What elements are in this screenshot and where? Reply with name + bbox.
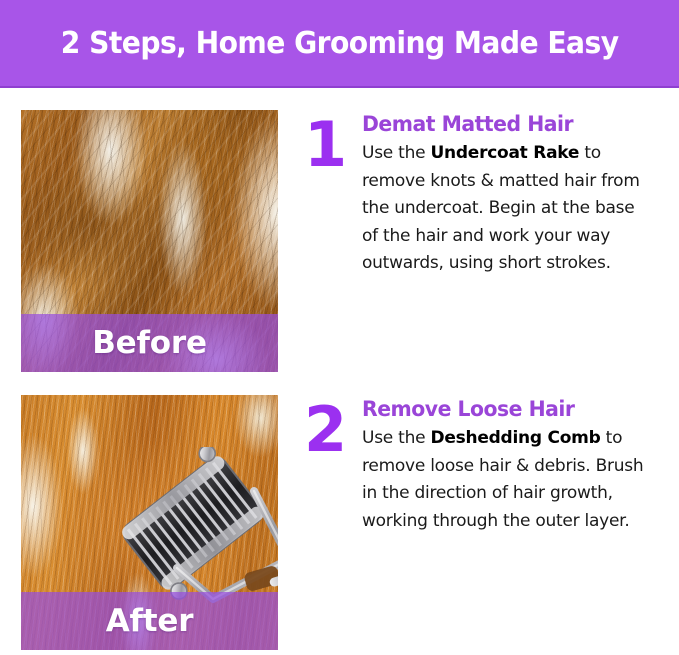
step-1-text-lead: Use the — [362, 143, 430, 163]
step-2-text-lead: Use the — [362, 428, 430, 448]
step-1-paragraph: Use the Undercoat Rake to remove knots &… — [362, 140, 652, 278]
page-title: 2 Steps, Home Grooming Made Easy — [61, 26, 619, 61]
step-2-heading: Remove Loose Hair — [362, 397, 643, 421]
step-2-body: 2 Remove Loose Hair Use the Deshedding C… — [278, 395, 652, 535]
infographic-page: 2 Steps, Home Grooming Made Easy Before … — [0, 0, 679, 655]
step-row-2: After 2 Remove Loose Hair Use the Deshed… — [0, 395, 679, 650]
step-2-number: 2 — [304, 401, 362, 458]
before-label-band: Before — [21, 314, 278, 372]
after-photo-card: After — [21, 395, 278, 650]
header-banner: 2 Steps, Home Grooming Made Easy — [0, 0, 679, 88]
before-label-text: Before — [92, 325, 207, 361]
step-row-1: Before 1 Demat Matted Hair Use the Under… — [0, 110, 679, 372]
step-1-product-name: Undercoat Rake — [430, 143, 579, 163]
before-photo-card: Before — [21, 110, 278, 372]
step-1-body: 1 Demat Matted Hair Use the Undercoat Ra… — [278, 110, 652, 278]
step-2-product-name: Deshedding Comb — [430, 428, 600, 448]
step-2-paragraph: Use the Deshedding Comb to remove loose … — [362, 425, 652, 535]
step-2-text-column: Remove Loose Hair Use the Deshedding Com… — [362, 395, 652, 535]
step-1-number: 1 — [304, 116, 362, 173]
after-label-band: After — [21, 592, 278, 650]
step-1-text-column: Demat Matted Hair Use the Undercoat Rake… — [362, 110, 652, 278]
step-1-heading: Demat Matted Hair — [362, 112, 643, 136]
after-label-text: After — [106, 603, 194, 639]
